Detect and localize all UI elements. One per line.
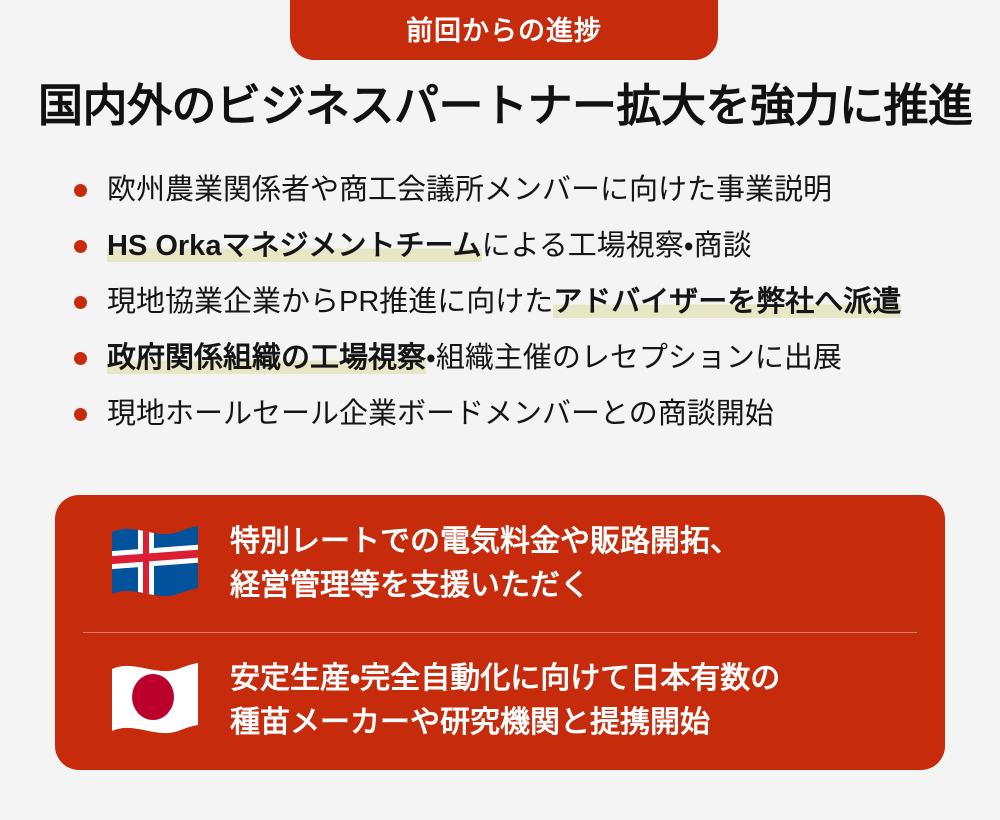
section-badge-label: 前回からの進捗: [406, 9, 602, 48]
panel-text-line: 種苗メーカーや研究機関と提携開始: [230, 701, 780, 745]
panel-row-iceland: 特別レートでの電気料金や販路開拓、 経営管理等を支援いただく: [55, 495, 945, 632]
list-item: HS Orkaマネジメントチームによる工場視察・商談: [74, 226, 974, 282]
list-item: 現地協業企業からPR推進に向けたアドバイザーを弊社へ派遣: [74, 282, 974, 338]
partner-support-panel: 特別レートでの電気料金や販路開拓、 経営管理等を支援いただく 安定生産・完全自動…: [55, 495, 945, 770]
list-item-segment: 現地協業企業からPR推進に向けた: [107, 286, 553, 318]
bullet-dot-icon: [74, 408, 87, 421]
japan-flag-icon: [100, 655, 208, 747]
list-item-text: 現地協業企業からPR推進に向けたアドバイザーを弊社へ派遣: [107, 282, 901, 322]
panel-text-line: 経営管理等を支援いただく: [230, 564, 740, 608]
panel-text-line: 安定生産・完全自動化に向けて日本有数の: [230, 657, 780, 701]
bullet-dot-icon: [74, 240, 87, 253]
progress-bullet-list: 欧州農業関係者や商工会議所メンバーに向けた事業説明 HS Orkaマネジメントチ…: [74, 170, 974, 450]
bullet-dot-icon: [74, 184, 87, 197]
list-item-segment: による工場視察・商談: [482, 230, 752, 262]
page-title: 国内外のビジネスパートナー拡大を強力に推進: [38, 80, 968, 132]
list-item: 欧州農業関係者や商工会議所メンバーに向けた事業説明: [74, 170, 974, 226]
list-item-segment: 現地ホールセール企業ボードメンバーとの商談開始: [107, 398, 774, 430]
list-item-segment-highlighted: 政府関係組織の工場視察: [107, 342, 426, 374]
list-item: 政府関係組織の工場視察・組織主催のレセプションに出展: [74, 338, 974, 394]
panel-divider: [83, 632, 917, 633]
list-item-segment: 欧州農業関係者や商工会議所メンバーに向けた事業説明: [107, 174, 832, 206]
bullet-dot-icon: [74, 352, 87, 365]
list-item-text: HS Orkaマネジメントチームによる工場視察・商談: [107, 226, 752, 266]
panel-text-iceland: 特別レートでの電気料金や販路開拓、 経営管理等を支援いただく: [230, 520, 740, 608]
list-item-segment: ・組織主催のレセプションに出展: [426, 342, 842, 374]
list-item-text: 現地ホールセール企業ボードメンバーとの商談開始: [107, 394, 774, 434]
section-badge: 前回からの進捗: [290, 0, 718, 60]
iceland-flag-icon: [100, 518, 208, 610]
bullet-dot-icon: [74, 296, 87, 309]
list-item: 現地ホールセール企業ボードメンバーとの商談開始: [74, 394, 974, 450]
panel-text-japan: 安定生産・完全自動化に向けて日本有数の 種苗メーカーや研究機関と提携開始: [230, 657, 780, 745]
panel-text-line: 特別レートでの電気料金や販路開拓、: [230, 520, 740, 564]
list-item-segment-highlighted: HS Orkaマネジメントチーム: [107, 230, 482, 262]
panel-row-japan: 安定生産・完全自動化に向けて日本有数の 種苗メーカーや研究機関と提携開始: [55, 632, 945, 769]
list-item-text: 欧州農業関係者や商工会議所メンバーに向けた事業説明: [107, 170, 832, 210]
badge-row: 前回からの進捗: [0, 0, 1000, 62]
list-item-segment-highlighted: アドバイザーを弊社へ派遣: [553, 286, 901, 318]
list-item-text: 政府関係組織の工場視察・組織主催のレセプションに出展: [107, 338, 842, 378]
